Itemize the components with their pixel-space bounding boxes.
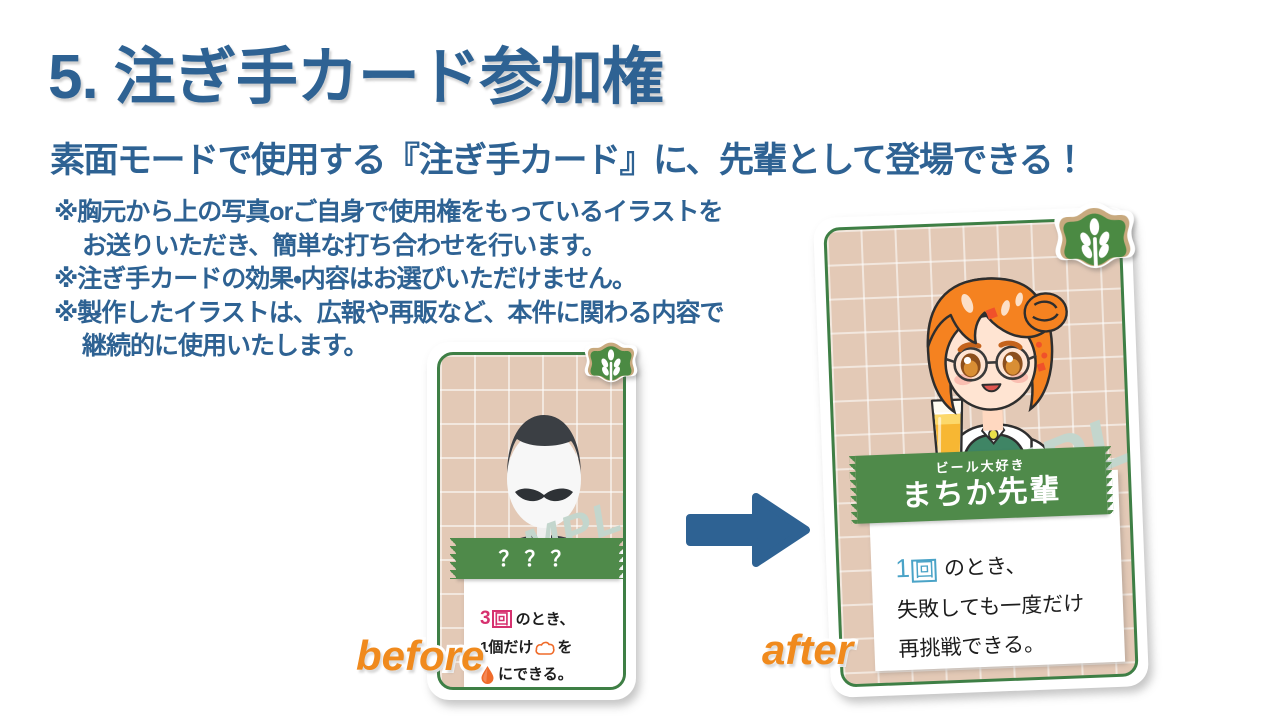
slide-root: 5. 注ぎ手カード参加権 素面モードで使用する『注ぎ手カード』に、先輩として登場… (0, 0, 1280, 720)
before-ribbon-name: ？？？ (456, 538, 619, 570)
before-name-ribbon: ？？？ (456, 538, 619, 579)
note-line-3: ※注ぎ手カードの効果・内容はお選びいただけません。 (54, 263, 844, 297)
after-effect-text: 1回のとき、 失敗しても一度だけ 再挑戦できる。 (871, 536, 1126, 671)
after-name-ribbon: ビール大好き まちか先輩 (855, 446, 1107, 524)
before-line3-rest: にできる。 (498, 662, 573, 688)
before-effect-line-2: 1個だけ を (480, 635, 626, 661)
after-effect-line-3: 再挑戦できる。 (898, 623, 1125, 670)
notes-list: ※胸元から上の写真orご自身で使用権をもっているイラストを お送りいただき、簡単… (54, 196, 844, 364)
before-line2-text: 1個だけ (480, 635, 533, 661)
after-count-unit: 回 (912, 559, 938, 583)
before-line2-tail: を (557, 635, 572, 661)
after-label: after (762, 626, 853, 674)
before-effect-text: 3回のとき、 1個だけ を にできる。 (464, 602, 626, 688)
before-effect-line-3: にできる。 (480, 662, 626, 688)
note-line-2: お送りいただき、簡単な打ち合わせを行います。 (54, 230, 844, 264)
before-count-unit: 回 (492, 610, 512, 628)
wheat-icon (580, 337, 642, 399)
note-line-1: ※胸元から上の写真orご自身で使用権をもっているイラストを (54, 196, 844, 230)
wheat-icon (1046, 198, 1144, 296)
after-card: SAMPLE 1回のとき、 失敗しても一度だけ 再挑戦できる。 ビール大好き ま… (813, 206, 1149, 698)
page-title: 5. 注ぎ手カード参加権 (48, 26, 663, 116)
note-line-4: ※製作したイラストは、広報や再販など、本件に関わる内容で (54, 297, 844, 331)
after-count: 1 (895, 553, 911, 584)
before-count: 3 (480, 608, 491, 629)
cloud-icon (535, 641, 555, 656)
before-line1-rest: のとき、 (516, 611, 575, 628)
after-line1-rest: のとき、 (944, 554, 1027, 580)
before-label: before (356, 632, 484, 680)
page-subtitle: 素面モードで使用する『注ぎ手カード』に、先輩として登場できる！ (50, 132, 1086, 183)
after-effect-line-1: 1回のとき、 (894, 536, 1122, 593)
before-after-arrow (686, 492, 810, 568)
before-effect-line-1: 3回のとき、 (480, 602, 626, 635)
